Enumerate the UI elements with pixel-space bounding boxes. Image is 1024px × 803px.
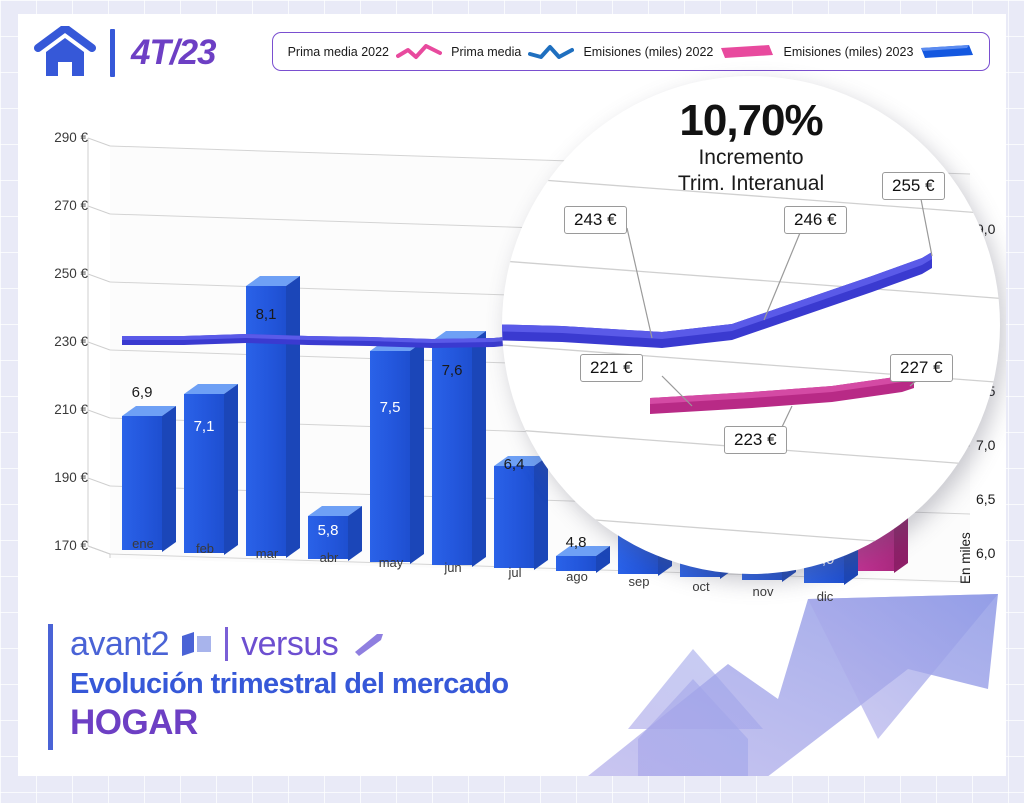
x-axis-tick-oct: oct	[678, 579, 724, 594]
callout-227: 227 €	[890, 354, 953, 382]
chart-legend: Prima media 2022 Prima media Emisiones (…	[272, 32, 990, 71]
versus-logo: versus	[241, 625, 338, 664]
bar-value-abr: 5,8	[302, 522, 354, 539]
line-blue-icon	[528, 44, 574, 60]
magnifier-lens: 10,70% Incremento Trim. Interanual	[502, 76, 1000, 574]
magnified-chart	[502, 76, 1000, 574]
x-axis-tick-feb: feb	[182, 541, 228, 556]
quarter-label: 4T/23	[131, 33, 216, 73]
legend-label: Prima media	[451, 45, 521, 59]
legend-item-prima-media-2022[interactable]: Prima media 2022	[288, 44, 442, 60]
callout-246: 246 €	[784, 206, 847, 234]
x-axis-tick-sep: sep	[616, 574, 662, 589]
bar-value-jun: 7,6	[426, 362, 478, 379]
callout-221: 221 €	[580, 354, 643, 382]
x-axis-tick-jun: jun	[430, 560, 476, 575]
bar-blue-icon	[920, 43, 974, 60]
x-axis-tick-mar: mar	[244, 546, 290, 561]
x-axis-tick-ene: ene	[120, 536, 166, 551]
home-icon	[34, 26, 96, 80]
x-axis-tick-may: may	[368, 555, 414, 570]
bar-value-may: 7,5	[364, 399, 416, 416]
callout-223: 223 €	[724, 426, 787, 454]
infographic-card: 4T/23 Prima media 2022 Prima media Emisi…	[18, 14, 1006, 776]
brand-accent-bar	[48, 624, 53, 750]
callout-255: 255 €	[882, 172, 945, 200]
legend-item-prima-media[interactable]: Prima media	[451, 44, 574, 60]
bar-feb	[184, 384, 238, 555]
avant2-mark-icon	[182, 632, 212, 656]
legend-label: Prima media 2022	[288, 45, 389, 59]
versus-mark-icon	[351, 632, 385, 656]
legend-label: Emisiones (miles) 2023	[783, 45, 913, 59]
report-title: Evolución trimestral del mercado	[70, 668, 509, 701]
decorative-arrow-small	[618, 639, 878, 776]
bar-value-feb: 7,1	[178, 418, 230, 435]
legend-label: Emisiones (miles) 2022	[583, 45, 713, 59]
brand-separator	[225, 627, 228, 661]
line-pink-icon	[396, 44, 442, 60]
brand-logos-row: avant2 versus	[70, 622, 509, 666]
x-axis-tick-dic: dic	[802, 589, 848, 604]
legend-item-emisiones-2023[interactable]: Emisiones (miles) 2023	[783, 43, 974, 60]
bar-value-ene: 6,9	[116, 384, 168, 401]
x-axis-tick-abr: abr	[306, 550, 352, 565]
header-divider	[110, 29, 115, 77]
report-segment: HOGAR	[70, 703, 509, 743]
callout-243: 243 €	[564, 206, 627, 234]
header: 4T/23	[34, 18, 216, 88]
legend-item-emisiones-2022[interactable]: Emisiones (miles) 2022	[583, 43, 774, 60]
bar-may	[370, 341, 424, 564]
x-axis-tick-nov: nov	[740, 584, 786, 599]
bar-pink-icon	[720, 43, 774, 60]
avant2-logo: avant2	[70, 625, 169, 664]
branding-block: avant2 versus Evolución trimestral del m…	[48, 622, 509, 743]
bar-value-mar: 8,1	[240, 306, 292, 323]
bar-ene	[122, 406, 176, 552]
